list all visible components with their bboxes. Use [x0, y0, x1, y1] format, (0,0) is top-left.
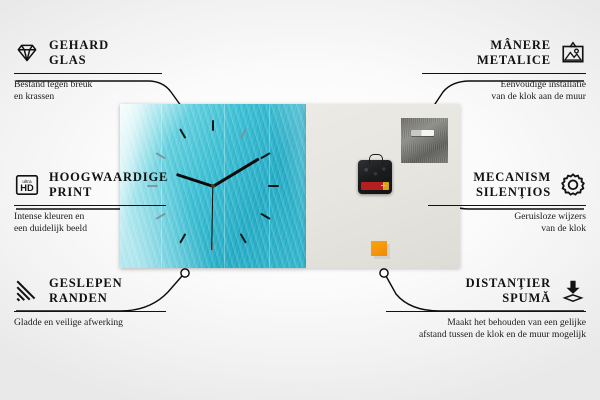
clock-tick	[212, 120, 214, 131]
ultra-hd-icon: ultra HD	[14, 172, 40, 198]
feature-title-line: GLAS	[49, 53, 109, 68]
gear-icon	[560, 172, 586, 198]
feature-description-line: afstand tussen de klok en de muur mogeli…	[386, 329, 586, 342]
metal-hanger-plate	[401, 118, 448, 163]
feature-divider	[428, 205, 586, 206]
feature-manere-metalice: MÂNERE METALICE Eenvoudige installatie v…	[422, 38, 586, 104]
feature-header: GEHARD GLAS	[14, 38, 162, 68]
feature-geslepen-randen: GESLEPEN RANDEN Gladde en veilige afwerk…	[14, 276, 166, 329]
picture-hanger-icon	[560, 40, 586, 66]
clock-tick	[179, 128, 186, 139]
feature-description: Maakt het behouden van een gelijke afsta…	[386, 317, 586, 343]
feature-description-line: Maakt het behouden van een gelijke	[386, 317, 586, 330]
feature-description-line: en krassen	[14, 91, 162, 104]
connector-dot-geslepen-randen	[181, 269, 189, 277]
feature-divider	[386, 311, 586, 312]
feature-description: Eenvoudige installatie van de klok aan d…	[422, 79, 586, 105]
ultra-hd-icon-main: HD	[20, 183, 34, 193]
feature-title: MÂNERE METALICE	[477, 38, 551, 68]
feature-title: MECANISM SILENŢIOS	[473, 170, 551, 200]
movement-detail	[362, 165, 388, 181]
feature-description-line: Eenvoudige installatie	[422, 79, 586, 92]
beveled-edges-icon	[14, 278, 40, 304]
feature-divider	[14, 205, 166, 206]
hanger-slot	[411, 130, 434, 136]
feature-mecanism-silentios: MECANISM SILENŢIOS Geruisloze wijzers va…	[428, 170, 586, 236]
feature-title-line: SILENŢIOS	[473, 185, 551, 200]
feature-header: ultra HD HOOGWAARDIGE PRINT	[14, 170, 166, 200]
feature-divider	[422, 73, 586, 74]
feature-distantier-spuma: DISTANŢIER SPUMĂ Maakt het behouden van …	[386, 276, 586, 342]
feature-title-line: METALICE	[477, 53, 551, 68]
glass-seam	[224, 104, 225, 268]
feature-description-line: een duidelijk beeld	[14, 223, 166, 236]
feature-title: DISTANŢIER SPUMĂ	[466, 276, 551, 306]
feature-title-line: MECANISM	[473, 170, 551, 185]
feature-title-line: GEHARD	[49, 38, 109, 53]
feature-title-line: SPUMĂ	[466, 291, 551, 306]
feature-description-line: Intense kleuren en	[14, 211, 166, 224]
movement-hanger-loop	[369, 154, 383, 164]
feature-gehard-glas: GEHARD GLAS Bestand tegen breuk en krass…	[14, 38, 162, 104]
clock-hour-hand	[176, 173, 213, 188]
diamond-icon	[14, 40, 40, 66]
infographic-canvas: GEHARD GLAS Bestand tegen breuk en krass…	[0, 0, 600, 400]
feature-description: Bestand tegen breuk en krassen	[14, 79, 162, 105]
clock-minute-hand	[212, 158, 259, 188]
feature-title: HOOGWAARDIGE PRINT	[49, 170, 168, 200]
feature-title-line: HOOGWAARDIGE	[49, 170, 168, 185]
feature-title: GESLEPEN RANDEN	[49, 276, 123, 306]
clock-tick	[179, 233, 186, 244]
clock-center-cap	[211, 184, 215, 188]
feature-description: Gladde en veilige afwerking	[14, 317, 166, 330]
feature-divider	[14, 311, 166, 312]
feature-divider	[14, 73, 162, 74]
feature-title: GEHARD GLAS	[49, 38, 109, 68]
feature-title-line: PRINT	[49, 185, 168, 200]
clock-tick	[240, 233, 247, 244]
feature-description-line: van de klok	[428, 223, 586, 236]
clock-tick	[240, 128, 247, 139]
product-photo	[120, 104, 460, 268]
feature-header: GESLEPEN RANDEN	[14, 276, 166, 306]
feature-header: DISTANŢIER SPUMĂ	[386, 276, 586, 306]
feature-hoogwaardige-print: ultra HD HOOGWAARDIGE PRINT Intense kleu…	[14, 170, 166, 236]
feature-description-line: Gladde en veilige afwerking	[14, 317, 166, 330]
feature-header: MÂNERE METALICE	[422, 38, 586, 68]
feature-title-line: RANDEN	[49, 291, 123, 306]
feature-description: Geruisloze wijzers van de klok	[428, 211, 586, 237]
quartz-movement-box	[358, 160, 392, 194]
feature-description-line: van de klok aan de muur	[422, 91, 586, 104]
feature-header: MECANISM SILENŢIOS	[428, 170, 586, 200]
feature-title-line: DISTANŢIER	[466, 276, 551, 291]
battery	[361, 182, 389, 190]
spacer-stack-icon	[560, 278, 586, 304]
feature-title-line: GESLEPEN	[49, 276, 123, 291]
feature-description-line: Bestand tegen breuk	[14, 79, 162, 92]
feature-title-line: MÂNERE	[477, 38, 551, 53]
foam-spacer	[371, 241, 387, 256]
clock-tick	[268, 185, 279, 187]
feature-description-line: Geruisloze wijzers	[428, 211, 586, 224]
feature-description: Intense kleuren en een duidelijk beeld	[14, 211, 166, 237]
